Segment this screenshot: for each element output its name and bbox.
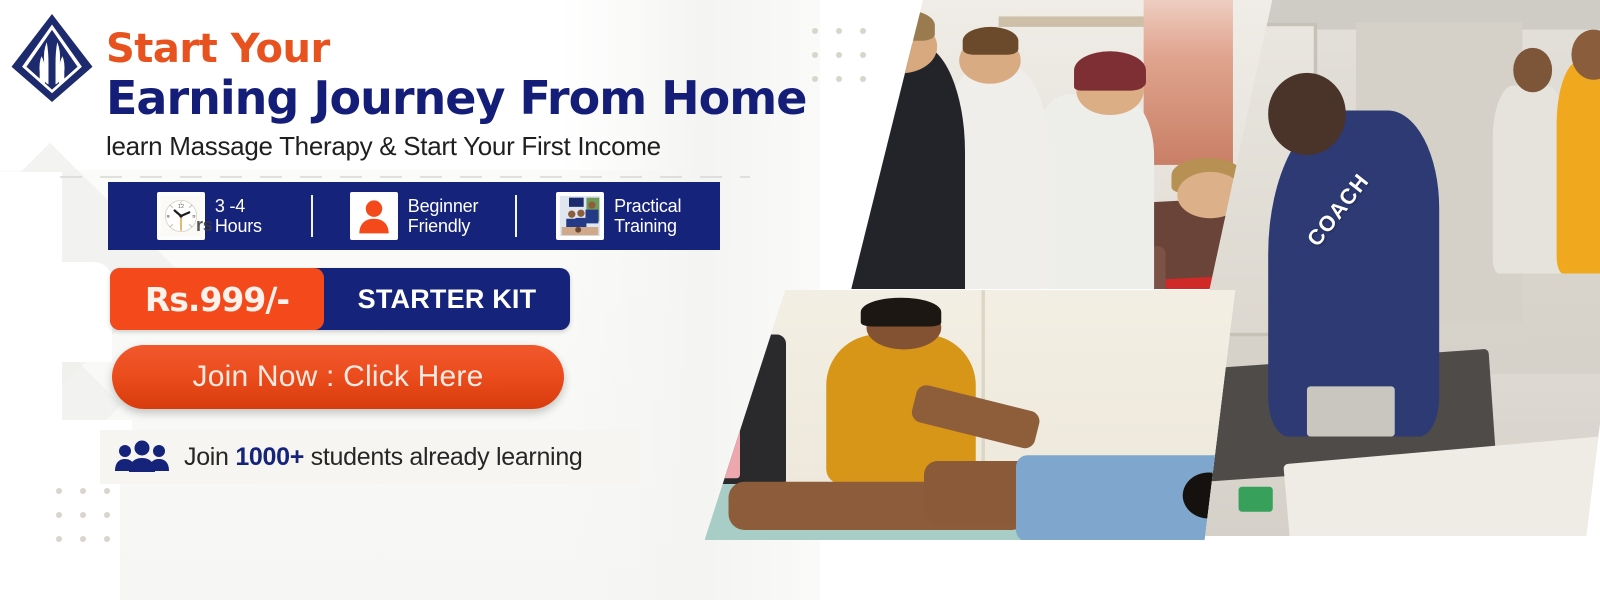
person-icon	[350, 192, 398, 240]
badge-separator-2	[515, 195, 517, 237]
feature-badge-practical: Practical Training	[517, 182, 720, 250]
feature-badge-practical-label: Practical Training	[614, 196, 681, 236]
hours-overlap-artifact: rs	[196, 215, 212, 236]
people-group-icon	[114, 440, 170, 474]
social-proof-strip: Join 1000+ students already learning	[100, 430, 640, 484]
starter-kit-offer[interactable]: Rs.999/- STARTER KIT	[110, 268, 570, 330]
social-proof-text: Join 1000+ students already learning	[184, 443, 583, 472]
social-proof-suffix: students already learning	[304, 443, 583, 471]
starter-kit-label: STARTER KIT	[324, 284, 570, 315]
headline-block: Start Your Earning Journey From Home lea…	[8, 8, 748, 162]
headline-title: Earning Journey From Home	[106, 72, 806, 125]
headline-subtitle: learn Massage Therapy & Start Your First…	[106, 131, 806, 162]
training-photo-icon	[556, 192, 604, 240]
feature-badge-beginner: Beginner Friendly	[313, 182, 516, 250]
praying-hands-diamond-logo	[8, 12, 96, 104]
badge-separator-1	[311, 195, 313, 237]
headline-text-group: Start Your Earning Journey From Home lea…	[96, 8, 806, 162]
headline-eyebrow: Start Your	[106, 28, 806, 70]
promo-content: Start Your Earning Journey From Home lea…	[0, 0, 760, 600]
svg-text:12: 12	[178, 204, 184, 210]
feature-badge-hours-label: 3 -4 Hours	[215, 196, 262, 236]
price-badge: Rs.999/-	[110, 268, 324, 330]
feature-badge-beginner-label: Beginner Friendly	[408, 196, 478, 236]
decorative-dashed-line	[60, 176, 750, 178]
join-now-button[interactable]: Join Now : Click Here	[112, 345, 564, 409]
social-proof-count: 1000+	[235, 443, 304, 471]
promo-banner: COACH	[0, 0, 1600, 600]
therapist-leg-massage-photo	[705, 290, 1236, 540]
social-proof-prefix: Join	[184, 443, 235, 471]
